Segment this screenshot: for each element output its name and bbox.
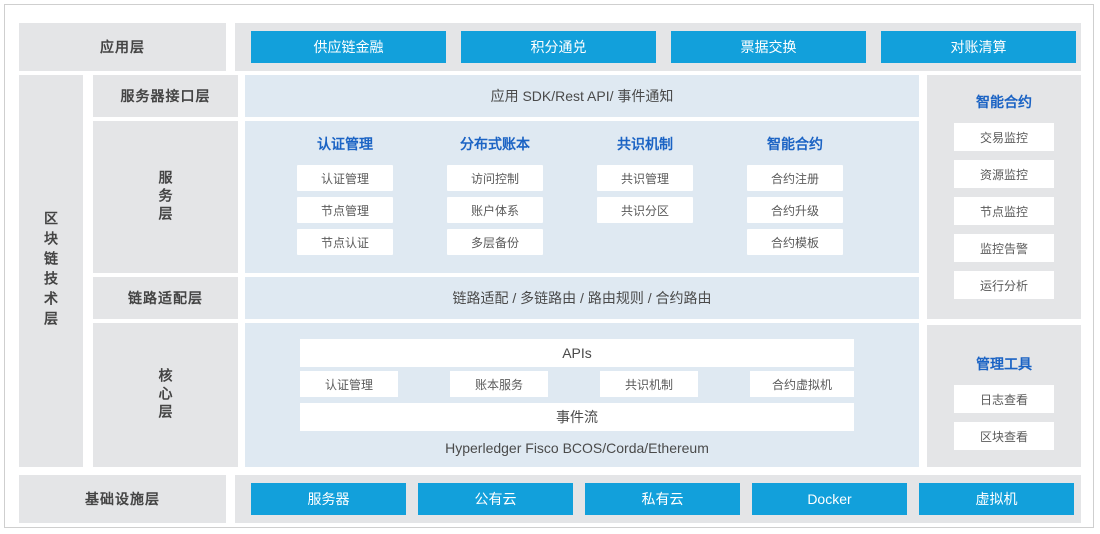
app-tile-reconciliation-settlement[interactable]: 对账清算 — [881, 31, 1076, 63]
architecture-diagram: 应用层 供应链金融 积分通兑 票据交换 对账清算 区块链技术层 服务器接口层 应… — [4, 4, 1094, 528]
right-panel-smart-contract-item-0[interactable]: 交易监控 — [954, 123, 1054, 151]
infra-tile-public-cloud[interactable]: 公有云 — [418, 483, 573, 515]
service-column-head-identity: 认证管理 — [290, 133, 400, 155]
right-panel-smart-contract-head: 智能合约 — [927, 91, 1081, 113]
service-cell-smart-contract-0[interactable]: 合约注册 — [747, 165, 843, 191]
service-cell-identity-2[interactable]: 节点认证 — [297, 229, 393, 255]
infra-tile-docker[interactable]: Docker — [752, 483, 907, 515]
right-panel-smart-contract-item-2[interactable]: 节点监控 — [954, 197, 1054, 225]
service-cell-ledger-2[interactable]: 多层备份 — [447, 229, 543, 255]
core-layer-label-box: 核心层 — [93, 323, 238, 467]
service-cell-consensus-1[interactable]: 共识分区 — [597, 197, 693, 223]
link-adaptation-layer-label-box: 链路适配层 — [93, 277, 238, 319]
application-layer-label: 应用层 — [100, 37, 145, 57]
infrastructure-layer-label: 基础设施层 — [85, 489, 160, 509]
app-tile-supply-chain-finance[interactable]: 供应链金融 — [251, 31, 446, 63]
infra-tile-server[interactable]: 服务器 — [251, 483, 406, 515]
link-adaptation-layer-label: 链路适配层 — [128, 288, 203, 308]
right-panel-management-tools-item-1[interactable]: 区块查看 — [954, 422, 1054, 450]
service-cell-identity-0[interactable]: 认证管理 — [297, 165, 393, 191]
link-adaptation-band: 链路适配 / 多链路由 / 路由规则 / 合约路由 — [245, 277, 919, 319]
app-tile-points-exchange[interactable]: 积分通兑 — [461, 31, 656, 63]
right-panel-management-tools: 管理工具 日志查看 区块查看 — [927, 325, 1081, 467]
service-column-head-consensus: 共识机制 — [590, 133, 700, 155]
core-layer-label: 核心层 — [159, 368, 173, 422]
blockchain-tech-layer-spine: 区块链技术层 — [19, 75, 83, 467]
right-panel-management-tools-head: 管理工具 — [927, 353, 1081, 375]
core-event-stream-bar[interactable]: 事件流 — [300, 403, 854, 431]
service-cell-smart-contract-1[interactable]: 合约升级 — [747, 197, 843, 223]
right-panel-management-tools-item-0[interactable]: 日志查看 — [954, 385, 1054, 413]
service-cell-smart-contract-2[interactable]: 合约模板 — [747, 229, 843, 255]
core-apis-bar[interactable]: APIs — [300, 339, 854, 367]
application-layer-tiles-container: 供应链金融 积分通兑 票据交换 对账清算 — [235, 23, 1081, 71]
infra-tile-virtual-machine[interactable]: 虚拟机 — [919, 483, 1074, 515]
right-panel-smart-contract-item-3[interactable]: 监控告警 — [954, 234, 1054, 262]
service-layer-label-box: 服务层 — [93, 121, 238, 273]
core-module-consensus[interactable]: 共识机制 — [600, 371, 698, 397]
infrastructure-layer-label-box: 基础设施层 — [19, 475, 226, 523]
application-layer-label-box: 应用层 — [19, 23, 226, 71]
right-panel-smart-contract-item-4[interactable]: 运行分析 — [954, 271, 1054, 299]
server-interface-layer-label: 服务器接口层 — [121, 86, 211, 106]
service-cell-ledger-0[interactable]: 访问控制 — [447, 165, 543, 191]
core-layer-footer: Hyperledger Fisco BCOS/Corda/Ethereum — [300, 435, 854, 461]
service-cell-consensus-0[interactable]: 共识管理 — [597, 165, 693, 191]
service-cell-ledger-1[interactable]: 账户体系 — [447, 197, 543, 223]
core-module-contract-vm[interactable]: 合约虚拟机 — [750, 371, 854, 397]
server-interface-band: 应用 SDK/Rest API/ 事件通知 — [245, 75, 919, 117]
server-interface-layer-label-box: 服务器接口层 — [93, 75, 238, 117]
service-layer-panel: 认证管理 认证管理 节点管理 节点认证 分布式账本 访问控制 账户体系 多层备份… — [245, 121, 919, 273]
infrastructure-layer-tiles-container: 服务器 公有云 私有云 Docker 虚拟机 — [235, 475, 1081, 523]
right-panel-smart-contract-item-1[interactable]: 资源监控 — [954, 160, 1054, 188]
core-module-ledger-service[interactable]: 账本服务 — [450, 371, 548, 397]
service-column-head-smart-contract: 智能合约 — [740, 133, 850, 155]
core-module-identity[interactable]: 认证管理 — [300, 371, 398, 397]
blockchain-tech-layer-label: 区块链技术层 — [44, 211, 58, 331]
service-column-head-ledger: 分布式账本 — [440, 133, 550, 155]
infra-tile-private-cloud[interactable]: 私有云 — [585, 483, 740, 515]
right-panel-smart-contract: 智能合约 交易监控 资源监控 节点监控 监控告警 运行分析 — [927, 75, 1081, 319]
core-layer-panel: APIs 认证管理 账本服务 共识机制 合约虚拟机 事件流 Hyperledge… — [245, 323, 919, 467]
app-tile-bill-exchange[interactable]: 票据交换 — [671, 31, 866, 63]
service-cell-identity-1[interactable]: 节点管理 — [297, 197, 393, 223]
service-layer-label: 服务层 — [159, 170, 173, 224]
